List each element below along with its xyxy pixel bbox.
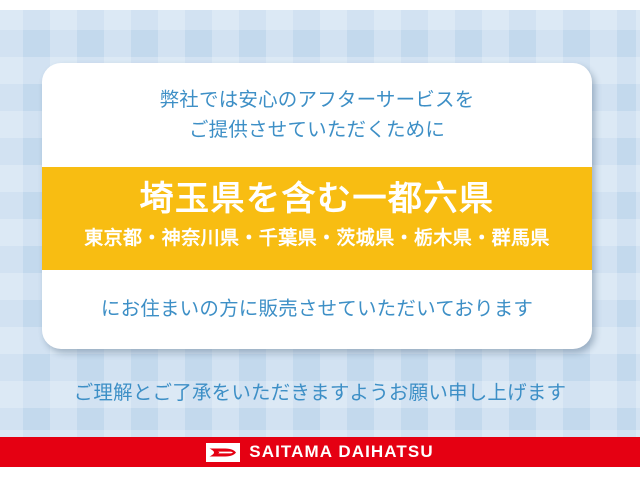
coverage-highlight-band: 埼玉県を含む一都六県 東京都・神奈川県・千葉県・茨城県・栃木県・群馬県 (42, 167, 592, 270)
intro-line-2: ご提供させていただくために (42, 115, 592, 145)
daihatsu-d-mark-icon (206, 443, 240, 462)
outro-message: にお住まいの方に販売させていただいております (42, 295, 592, 323)
intro-message: 弊社では安心のアフターサービスを ご提供させていただくために (42, 85, 592, 145)
closing-message: ご理解とご了承をいただきますようお願い申し上げます (0, 379, 640, 407)
coverage-headline: 埼玉県を含む一都六県 (42, 177, 592, 221)
brand-lockup: SAITAMA DAIHATSU (206, 442, 433, 462)
notice-banner: 弊社では安心のアフターサービスを ご提供させていただくために 埼玉県を含む一都六… (0, 0, 640, 480)
brand-name: SAITAMA DAIHATSU (249, 442, 433, 462)
brand-footer-bar: SAITAMA DAIHATSU (0, 437, 640, 467)
intro-line-1: 弊社では安心のアフターサービスを (42, 85, 592, 115)
notice-card: 弊社では安心のアフターサービスを ご提供させていただくために 埼玉県を含む一都六… (42, 63, 592, 349)
prefecture-list: 東京都・神奈川県・千葉県・茨城県・栃木県・群馬県 (42, 225, 592, 253)
